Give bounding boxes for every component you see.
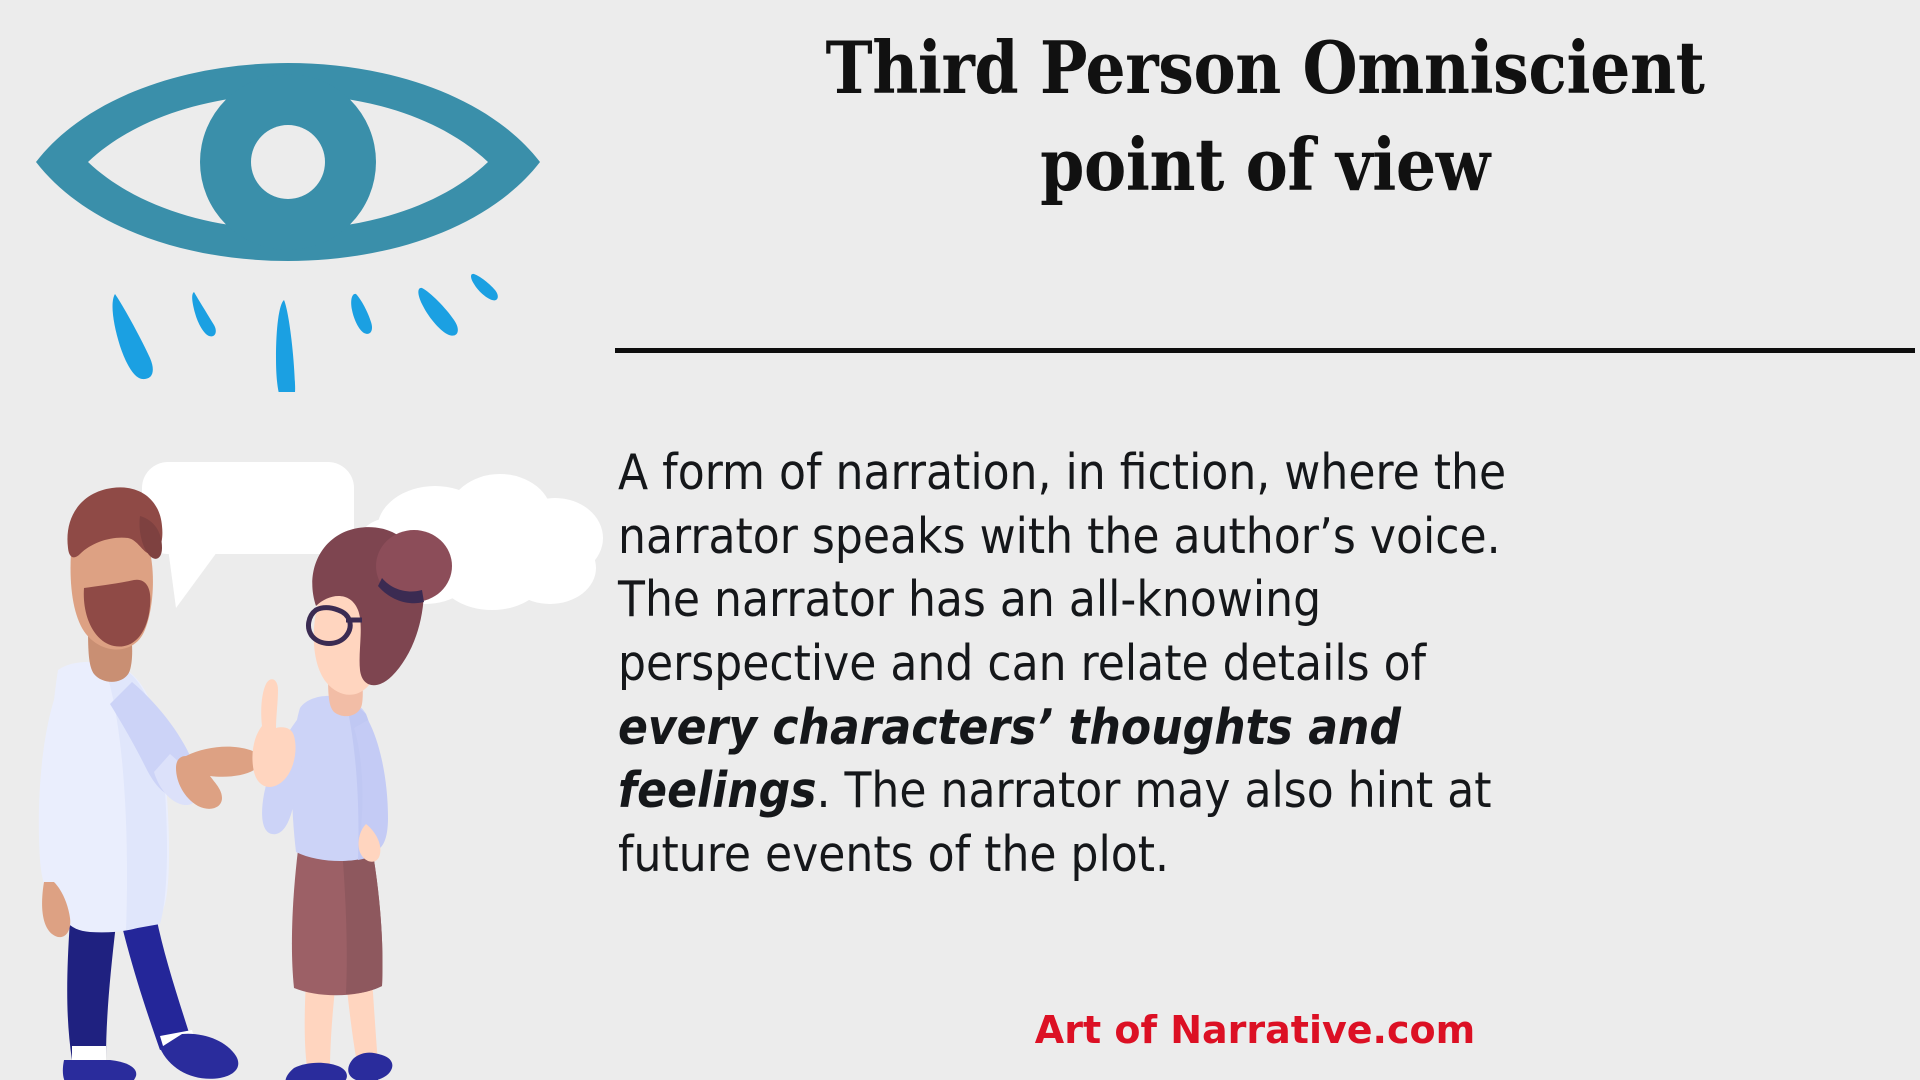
eye-icon [18, 2, 558, 392]
title-line-1: Third Person Omniscient [689, 28, 1842, 109]
woman-figure [252, 527, 452, 1080]
text-column: Third Person Omniscient point of view A … [610, 0, 1920, 1080]
eye-lashes-group [113, 274, 498, 392]
definition-text-part1: A form of narration, in fiction, where t… [618, 444, 1506, 692]
definition-block: A form of narration, in fiction, where t… [618, 392, 1918, 936]
man-shoe-back [63, 1060, 136, 1080]
woman-shoe-front [348, 1053, 392, 1080]
title-line-2: point of view [689, 125, 1842, 206]
man-figure [39, 487, 261, 1080]
definition-paragraph: A form of narration, in fiction, where t… [618, 441, 1554, 887]
infographic-canvas: Third Person Omniscient point of view A … [0, 0, 1920, 1080]
eye-lash-5 [418, 288, 458, 336]
woman-shoe-back [285, 1063, 352, 1080]
page-title: Third Person Omniscient point of view [610, 28, 1920, 205]
eye-pupil [251, 125, 325, 199]
title-divider [615, 348, 1915, 353]
eye-lash-1 [113, 294, 153, 379]
man-leg-front [120, 916, 192, 1050]
man-leg-back [67, 920, 116, 1060]
woman-hand-pointing [252, 679, 295, 787]
eye-lash-6 [471, 274, 498, 301]
eye-lash-4 [351, 294, 372, 334]
eye-lash-3 [276, 300, 295, 392]
people-illustration [10, 420, 610, 1080]
woman-skirt-shade [342, 848, 383, 994]
eye-lash-2 [192, 292, 216, 336]
illustration-column [0, 0, 610, 1080]
brand-watermark: Art of Narrative.com [610, 1008, 1900, 1052]
